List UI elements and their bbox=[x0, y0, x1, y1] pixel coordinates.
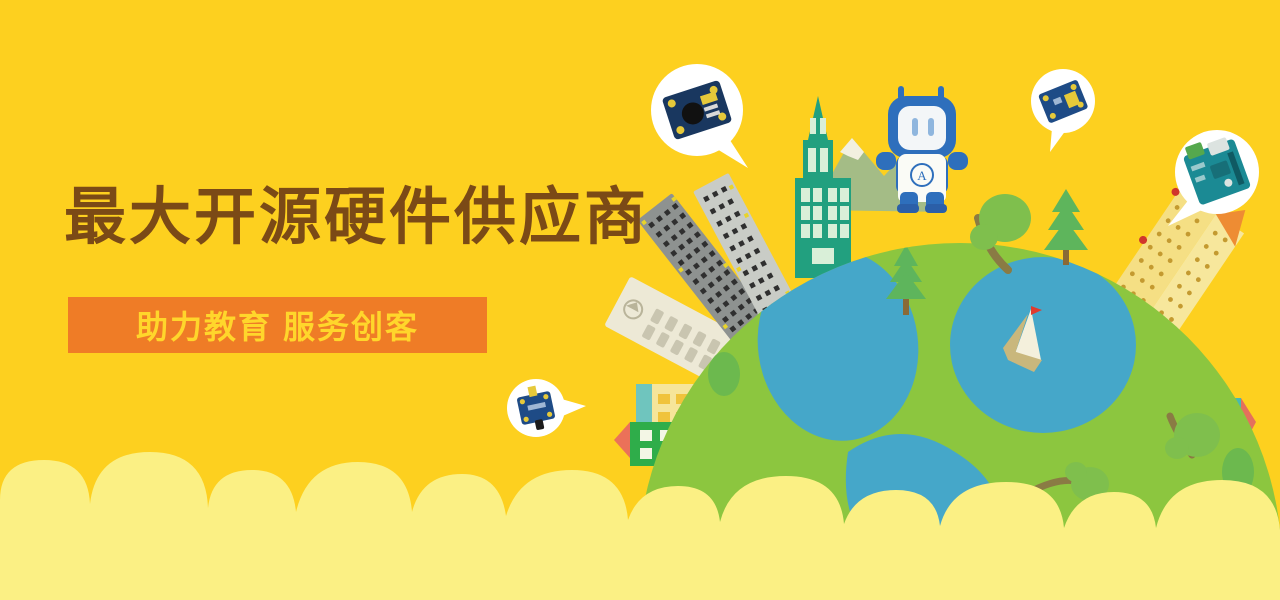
page-title: 最大开源硬件供应商 bbox=[64, 180, 649, 256]
lake-right bbox=[950, 257, 1136, 433]
tree-left-bush bbox=[708, 352, 740, 396]
subtitle-badge: 助力教育 服务创客 bbox=[68, 297, 487, 353]
robot-logo-letter: A bbox=[917, 168, 927, 183]
subtitle-text: 助力教育 服务创客 bbox=[68, 297, 487, 353]
promo-banner: A bbox=[0, 0, 1280, 600]
